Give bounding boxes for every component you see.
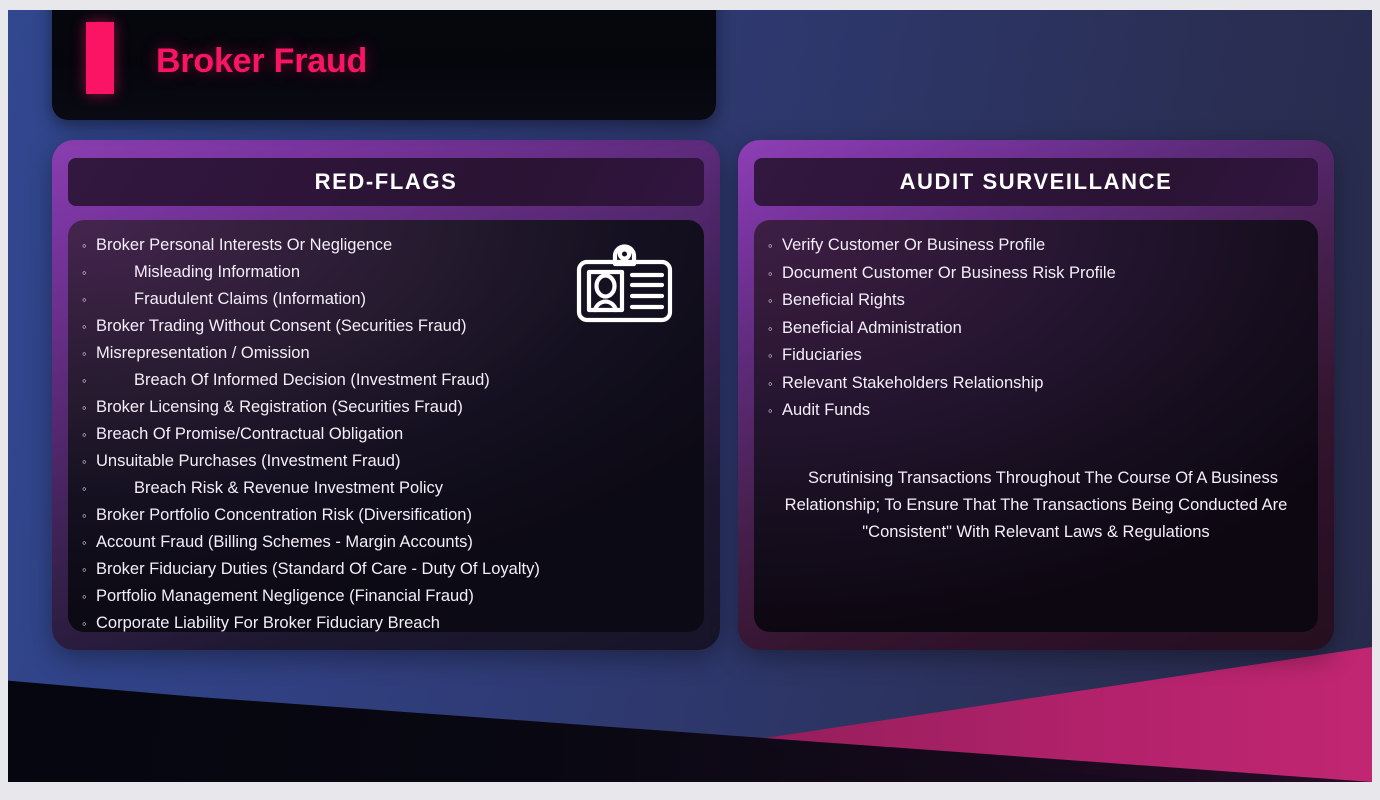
bullet-dot-icon: ◦ [82, 610, 96, 632]
audit_surveillance-item-label: Document Customer Or Business Risk Profi… [782, 260, 1116, 288]
bullet-dot-icon: ◦ [82, 286, 96, 313]
panel-audit-header: AUDIT SURVEILLANCE [754, 158, 1318, 206]
bullet-dot-icon: ◦ [82, 232, 96, 259]
panel-audit-card: ◦Verify Customer Or Business Profile◦Doc… [754, 220, 1318, 632]
panel-audit-title: AUDIT SURVEILLANCE [900, 169, 1173, 195]
audit_surveillance-item-label: Relevant Stakeholders Relationship [782, 370, 1043, 398]
audit_surveillance-item: ◦Fiduciaries [768, 342, 1304, 370]
page-title: Broker Fraud [156, 42, 367, 81]
bullet-dot-icon: ◦ [82, 313, 96, 340]
red_flags-item: ◦Corporate Liability For Broker Fiduciar… [82, 610, 690, 632]
bullet-dot-icon: ◦ [82, 556, 96, 583]
red_flags-item: ◦Portfolio Management Negligence (Financ… [82, 583, 690, 610]
bullet-dot-icon: ◦ [82, 367, 96, 394]
red_flags-item: ◦Account Fraud (Billing Schemes - Margin… [82, 529, 690, 556]
red_flags-item: ◦Misrepresentation / Omission [82, 340, 690, 367]
audit_surveillance-item: ◦Document Customer Or Business Risk Prof… [768, 260, 1304, 288]
bullet-dot-icon: ◦ [82, 583, 96, 610]
red_flags-item: ◦Broker Fiduciary Duties (Standard Of Ca… [82, 556, 690, 583]
red_flags-item-label: Broker Fiduciary Duties (Standard Of Car… [96, 556, 540, 583]
audit_surveillance-item: ◦Beneficial Rights [768, 287, 1304, 315]
bullet-dot-icon: ◦ [768, 287, 782, 314]
audit_surveillance-item: ◦Beneficial Administration [768, 315, 1304, 343]
bullet-dot-icon: ◦ [768, 260, 782, 287]
title-accent-bar [86, 22, 114, 94]
audit-surveillance-list: ◦Verify Customer Or Business Profile◦Doc… [754, 220, 1318, 425]
bullet-dot-icon: ◦ [768, 370, 782, 397]
audit_surveillance-item: ◦Verify Customer Or Business Profile [768, 232, 1304, 260]
bullet-dot-icon: ◦ [82, 421, 96, 448]
bullet-dot-icon: ◦ [82, 394, 96, 421]
slide-canvas: Broker Fraud RED-FLAGS [8, 10, 1372, 782]
panel-red-flags-card: ◦Broker Personal Interests Or Negligence… [68, 220, 704, 632]
panel-red-flags-title: RED-FLAGS [315, 169, 458, 195]
red_flags-item-label: Misrepresentation / Omission [96, 340, 310, 367]
red_flags-item-label: Account Fraud (Billing Schemes - Margin … [96, 529, 473, 556]
red_flags-item-label: Breach Of Informed Decision (Investment … [96, 367, 490, 394]
red_flags-item-label: Breach Risk & Revenue Investment Policy [96, 475, 443, 502]
audit_surveillance-item-label: Verify Customer Or Business Profile [782, 232, 1045, 260]
bullet-dot-icon: ◦ [82, 529, 96, 556]
red_flags-item: ◦Broker Portfolio Concentration Risk (Di… [82, 502, 690, 529]
id-badge-icon [572, 232, 676, 328]
bullet-dot-icon: ◦ [768, 232, 782, 259]
bullet-dot-icon: ◦ [82, 502, 96, 529]
panel-red-flags-header: RED-FLAGS [68, 158, 704, 206]
red_flags-item-label: Broker Portfolio Concentration Risk (Div… [96, 502, 472, 529]
red_flags-item-label: Breach Of Promise/Contractual Obligation [96, 421, 403, 448]
audit_surveillance-item: ◦Relevant Stakeholders Relationship [768, 370, 1304, 398]
red_flags-item-label: Broker Trading Without Consent (Securiti… [96, 313, 467, 340]
red_flags-item-label: Broker Personal Interests Or Negligence [96, 232, 392, 259]
bullet-dot-icon: ◦ [768, 342, 782, 369]
audit_surveillance-item-label: Audit Funds [782, 397, 870, 425]
audit_surveillance-item-label: Beneficial Administration [782, 315, 962, 343]
bullet-dot-icon: ◦ [82, 259, 96, 286]
red_flags-item-label: Fraudulent Claims (Information) [96, 286, 366, 313]
red_flags-item: ◦Broker Licensing & Registration (Securi… [82, 394, 690, 421]
panel-red-flags: RED-FLAGS [52, 140, 720, 650]
red_flags-item: ◦Breach Risk & Revenue Investment Policy [82, 475, 690, 502]
red_flags-item: ◦Breach Of Promise/Contractual Obligatio… [82, 421, 690, 448]
red_flags-item: ◦Unsuitable Purchases (Investment Fraud) [82, 448, 690, 475]
audit_surveillance-item-label: Beneficial Rights [782, 287, 905, 315]
title-banner: Broker Fraud [52, 10, 716, 120]
audit-summary-paragraph: Scrutinising Transactions Throughout The… [776, 465, 1296, 546]
panel-audit-surveillance: AUDIT SURVEILLANCE ◦Verify Customer Or B… [738, 140, 1334, 650]
bullet-dot-icon: ◦ [82, 475, 96, 502]
red_flags-item: ◦Breach Of Informed Decision (Investment… [82, 367, 690, 394]
red_flags-item-label: Unsuitable Purchases (Investment Fraud) [96, 448, 400, 475]
red_flags-item-label: Misleading Information [96, 259, 300, 286]
red_flags-item-label: Corporate Liability For Broker Fiduciary… [96, 610, 440, 632]
audit_surveillance-item: ◦Audit Funds [768, 397, 1304, 425]
bullet-dot-icon: ◦ [768, 397, 782, 424]
bullet-dot-icon: ◦ [768, 315, 782, 342]
audit_surveillance-item-label: Fiduciaries [782, 342, 862, 370]
bullet-dot-icon: ◦ [82, 448, 96, 475]
red_flags-item-label: Broker Licensing & Registration (Securit… [96, 394, 463, 421]
bullet-dot-icon: ◦ [82, 340, 96, 367]
red_flags-item-label: Portfolio Management Negligence (Financi… [96, 583, 474, 610]
